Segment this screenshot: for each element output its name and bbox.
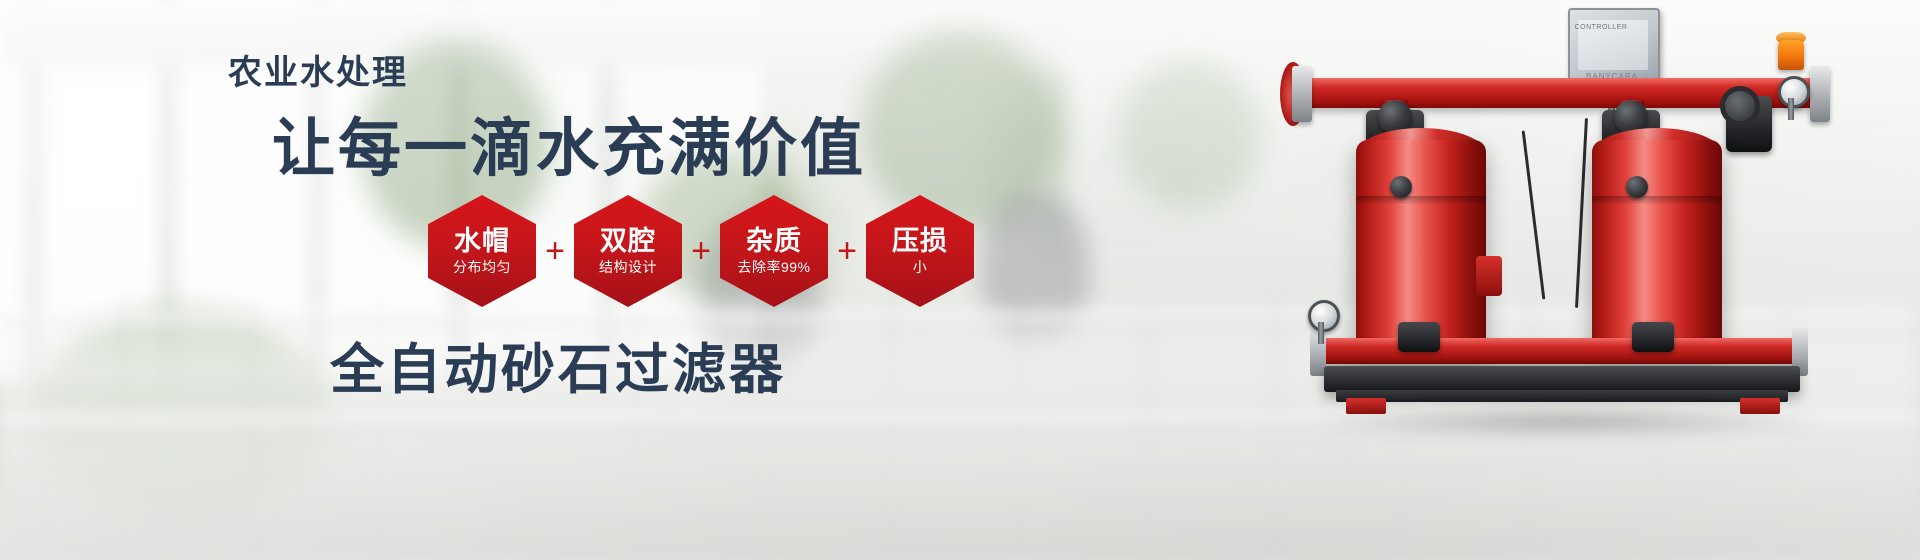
plus-separator-icon: + [536, 234, 574, 268]
feature-badge-water-cap: 水帽 分布均匀 [428, 195, 536, 307]
feature-badge-title: 双腔 [600, 228, 656, 255]
plus-separator-icon: + [682, 234, 720, 268]
feature-badge-title: 杂质 [746, 228, 802, 255]
tank-band [1592, 196, 1722, 204]
feature-badge-subtitle: 分布均匀 [453, 260, 511, 274]
product-title: 全自动砂石过滤器 [330, 325, 786, 404]
feature-badge-title: 水帽 [454, 228, 510, 255]
feature-badge-subtitle: 小 [913, 260, 928, 274]
tank-inspection-port [1390, 176, 1412, 198]
drain-valve [1398, 322, 1440, 352]
pressure-gauge [1778, 76, 1810, 108]
feature-badge-subtitle: 结构设计 [599, 260, 657, 274]
bottom-manifold-pipe [1320, 338, 1800, 364]
filter-tank [1356, 140, 1486, 350]
feature-badge-pressure-loss: 压损 小 [866, 195, 974, 307]
ground-shadow [1310, 404, 1820, 438]
tank-nozzle [1476, 256, 1502, 296]
pressure-gauge [1308, 300, 1340, 332]
drain-valve [1632, 322, 1674, 352]
relief-valve [1778, 40, 1804, 70]
feature-badge-title: 压损 [892, 228, 948, 255]
feature-badge-dual-chamber: 双腔 结构设计 [574, 195, 682, 307]
feature-badge-list: 水帽 分布均匀 + 双腔 结构设计 + 杂质 去除率99% + 压损 小 [428, 195, 974, 307]
tank-inspection-port [1626, 176, 1648, 198]
filter-tank [1592, 140, 1722, 350]
pipe-flange [1810, 66, 1830, 122]
feature-badge-impurity: 杂质 去除率99% [720, 195, 828, 307]
pipe-flange [1292, 66, 1312, 122]
feature-badge-subtitle: 去除率99% [737, 260, 810, 274]
controller-label: CONTROLLER [1568, 24, 1634, 31]
gauge-stem [1788, 98, 1794, 120]
control-wire [1575, 118, 1588, 308]
page-title: 让每一滴水充满价值 [272, 98, 866, 189]
eyebrow-text: 农业水处理 [228, 45, 408, 94]
promo-banner: 农业水处理 让每一滴水充满价值 全自动砂石过滤器 水帽 分布均匀 + 双腔 结构… [0, 0, 1920, 560]
handwheel-icon [1720, 86, 1760, 126]
plus-separator-icon: + [828, 234, 866, 268]
skid-base-frame [1324, 366, 1800, 392]
skid-base-frame [1336, 390, 1788, 402]
gauge-stem [1318, 322, 1324, 344]
tank-band [1356, 196, 1486, 204]
control-wire [1522, 130, 1546, 299]
product-image: CONTROLLER BANYCARA [1280, 0, 1920, 560]
